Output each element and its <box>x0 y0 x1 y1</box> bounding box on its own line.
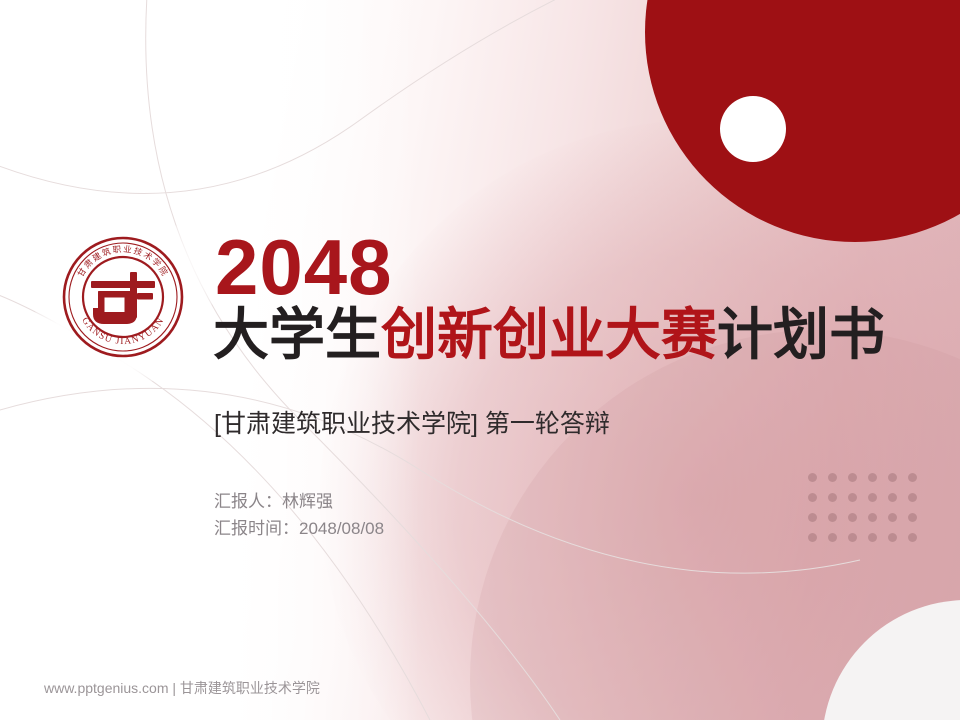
school-logo: 甘肃建筑职业技术学院 GANSU JIANYUAN <box>48 222 198 372</box>
slide-subtitle: [甘肃建筑职业技术学院] 第一轮答辩 <box>214 408 610 441</box>
presenter-line: 汇报人：林辉强 <box>214 488 384 515</box>
decorative-dot-grid <box>808 473 928 553</box>
slide-year: 2048 <box>215 226 393 308</box>
presentation-meta: 汇报人：林辉强 汇报时间：2048/08/08 <box>214 488 384 542</box>
title-segment-2: 创新创业大赛 <box>381 303 717 368</box>
title-segment-1: 大学生 <box>213 303 381 368</box>
date-line: 汇报时间：2048/08/08 <box>214 515 384 542</box>
slide-footer: www.pptgenius.com | 甘肃建筑职业技术学院 <box>44 678 320 698</box>
title-segment-3: 计划书 <box>717 303 885 368</box>
presentation-slide: 甘肃建筑职业技术学院 GANSU JIANYUAN 2048 大学生创新创业大赛… <box>0 0 960 720</box>
slide-title: 大学生创新创业大赛计划书 <box>213 305 885 367</box>
school-seal-icon: 甘肃建筑职业技术学院 GANSU JIANYUAN <box>60 234 186 360</box>
decorative-white-circle-small <box>720 96 786 162</box>
